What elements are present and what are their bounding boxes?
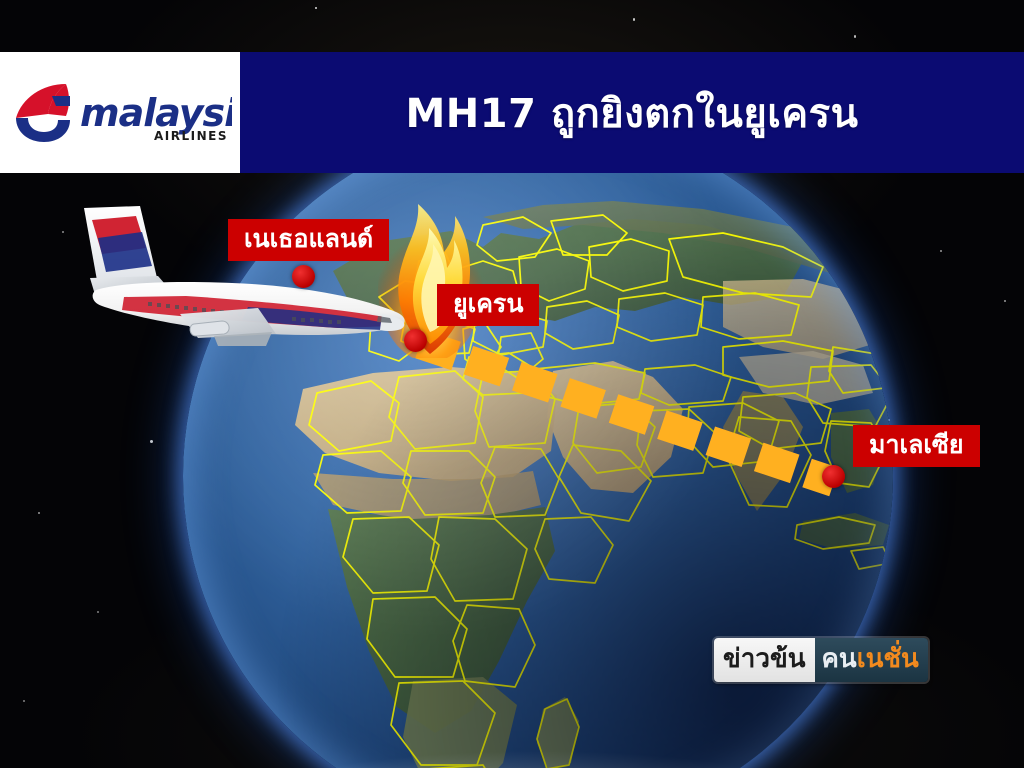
watermark-program-name: ข่าวข้น bbox=[714, 638, 815, 682]
broadcast-news-graphic: malaysia AIRLINES MH17 ถูกยิงตกในยูเครน … bbox=[0, 0, 1024, 768]
marker-malaysia[interactable] bbox=[822, 465, 845, 488]
watermark-channel-nation: เนชั่น bbox=[857, 638, 919, 679]
logo-subtext: AIRLINES bbox=[154, 129, 228, 143]
label-ukraine[interactable]: ยูเครน bbox=[437, 284, 539, 326]
label-netherlands[interactable]: เนเธอแลนด์ bbox=[228, 219, 389, 261]
marker-netherlands[interactable] bbox=[292, 265, 315, 288]
airline-logo-icon: malaysia AIRLINES bbox=[8, 74, 232, 152]
watermark-channel-kon: คน bbox=[822, 638, 857, 679]
marker-ukraine[interactable] bbox=[404, 329, 427, 352]
watermark-channel: คนเนชั่น bbox=[815, 638, 928, 682]
headline-bar: MH17 ถูกยิงตกในยูเครน bbox=[240, 52, 1024, 173]
malaysia-airlines-logo: malaysia AIRLINES bbox=[0, 52, 240, 173]
broadcaster-watermark: ข่าวข้น คนเนชั่น bbox=[714, 638, 928, 682]
page-title: MH17 ถูกยิงตกในยูเครน bbox=[405, 81, 858, 145]
label-malaysia[interactable]: มาเลเซีย bbox=[853, 425, 980, 467]
malaysia-airlines-aircraft bbox=[62, 186, 422, 351]
